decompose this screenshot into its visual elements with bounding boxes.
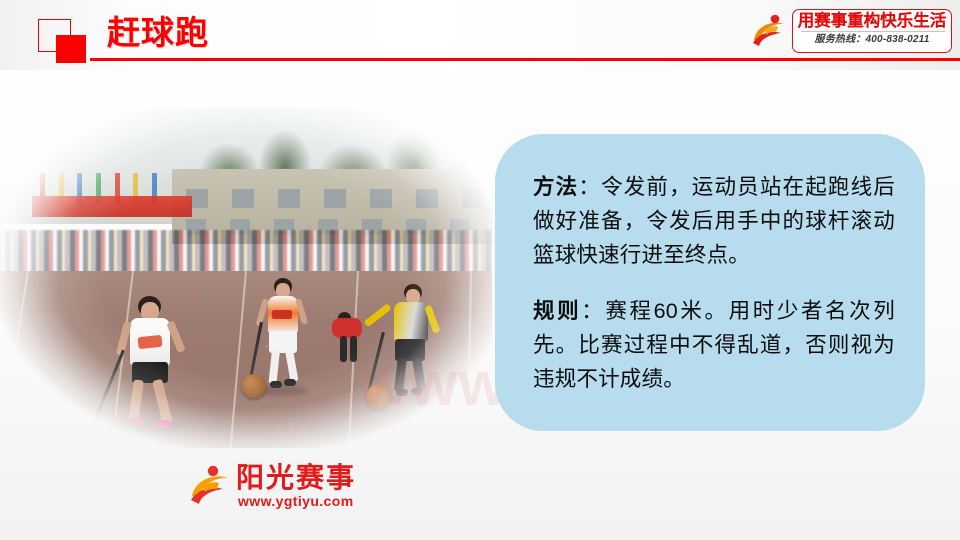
running-person-icon [748, 10, 790, 52]
photo-watermark-url: www.ygtiyu.com [238, 493, 354, 510]
page-title: 赶球跑 [107, 11, 209, 55]
brand-logo: 用赛事重构快乐生活 服务热线：400-838-0211 [748, 8, 953, 56]
event-photo: 阳光赛事 www.ygtiyu.com [0, 108, 492, 448]
brand-hotline: 服务热线：400-838-0211 [793, 33, 951, 47]
brand-divider [801, 31, 945, 32]
brand-slogan: 用赛事重构快乐生活 [793, 11, 951, 32]
rules-label: 规则 [533, 299, 581, 323]
photo-watermark-name: 阳光赛事 [236, 462, 356, 494]
method-label: 方法 [533, 175, 578, 199]
header-divider-line [90, 58, 960, 61]
photo-athlete-1 [112, 296, 202, 436]
brand-plate: 用赛事重构快乐生活 服务热线：400-838-0211 [792, 9, 952, 53]
photo-banner [32, 196, 192, 216]
decorative-square-filled [56, 35, 86, 63]
slide-root: 赶球跑 用赛事重构快乐生活 服务热线：400-838-0211 [0, 0, 960, 540]
event-photo-image [0, 108, 492, 448]
info-panel: 方法：令发前，运动员站在起跑线后做好准备，令发后用手中的球杆滚动篮球快速行进至终… [495, 134, 925, 431]
photo-athlete-3 [378, 284, 454, 408]
photo-official [330, 300, 374, 370]
photo-athlete-2 [254, 278, 324, 398]
rules-paragraph: 规则：赛程60米。用时少者名次列先。比赛过程中不得乱道，否则视为违规不计成绩。 [533, 294, 895, 396]
method-separator: ： [578, 175, 601, 199]
method-paragraph: 方法：令发前，运动员站在起跑线后做好准备，令发后用手中的球杆滚动篮球快速行进至终… [533, 170, 895, 272]
rules-separator: ： [581, 299, 605, 323]
slide-header: 赶球跑 用赛事重构快乐生活 服务热线：400-838-0211 [0, 0, 960, 70]
sun-runner-icon [188, 464, 232, 510]
photo-watermark: 阳光赛事 www.ygtiyu.com [188, 460, 374, 516]
